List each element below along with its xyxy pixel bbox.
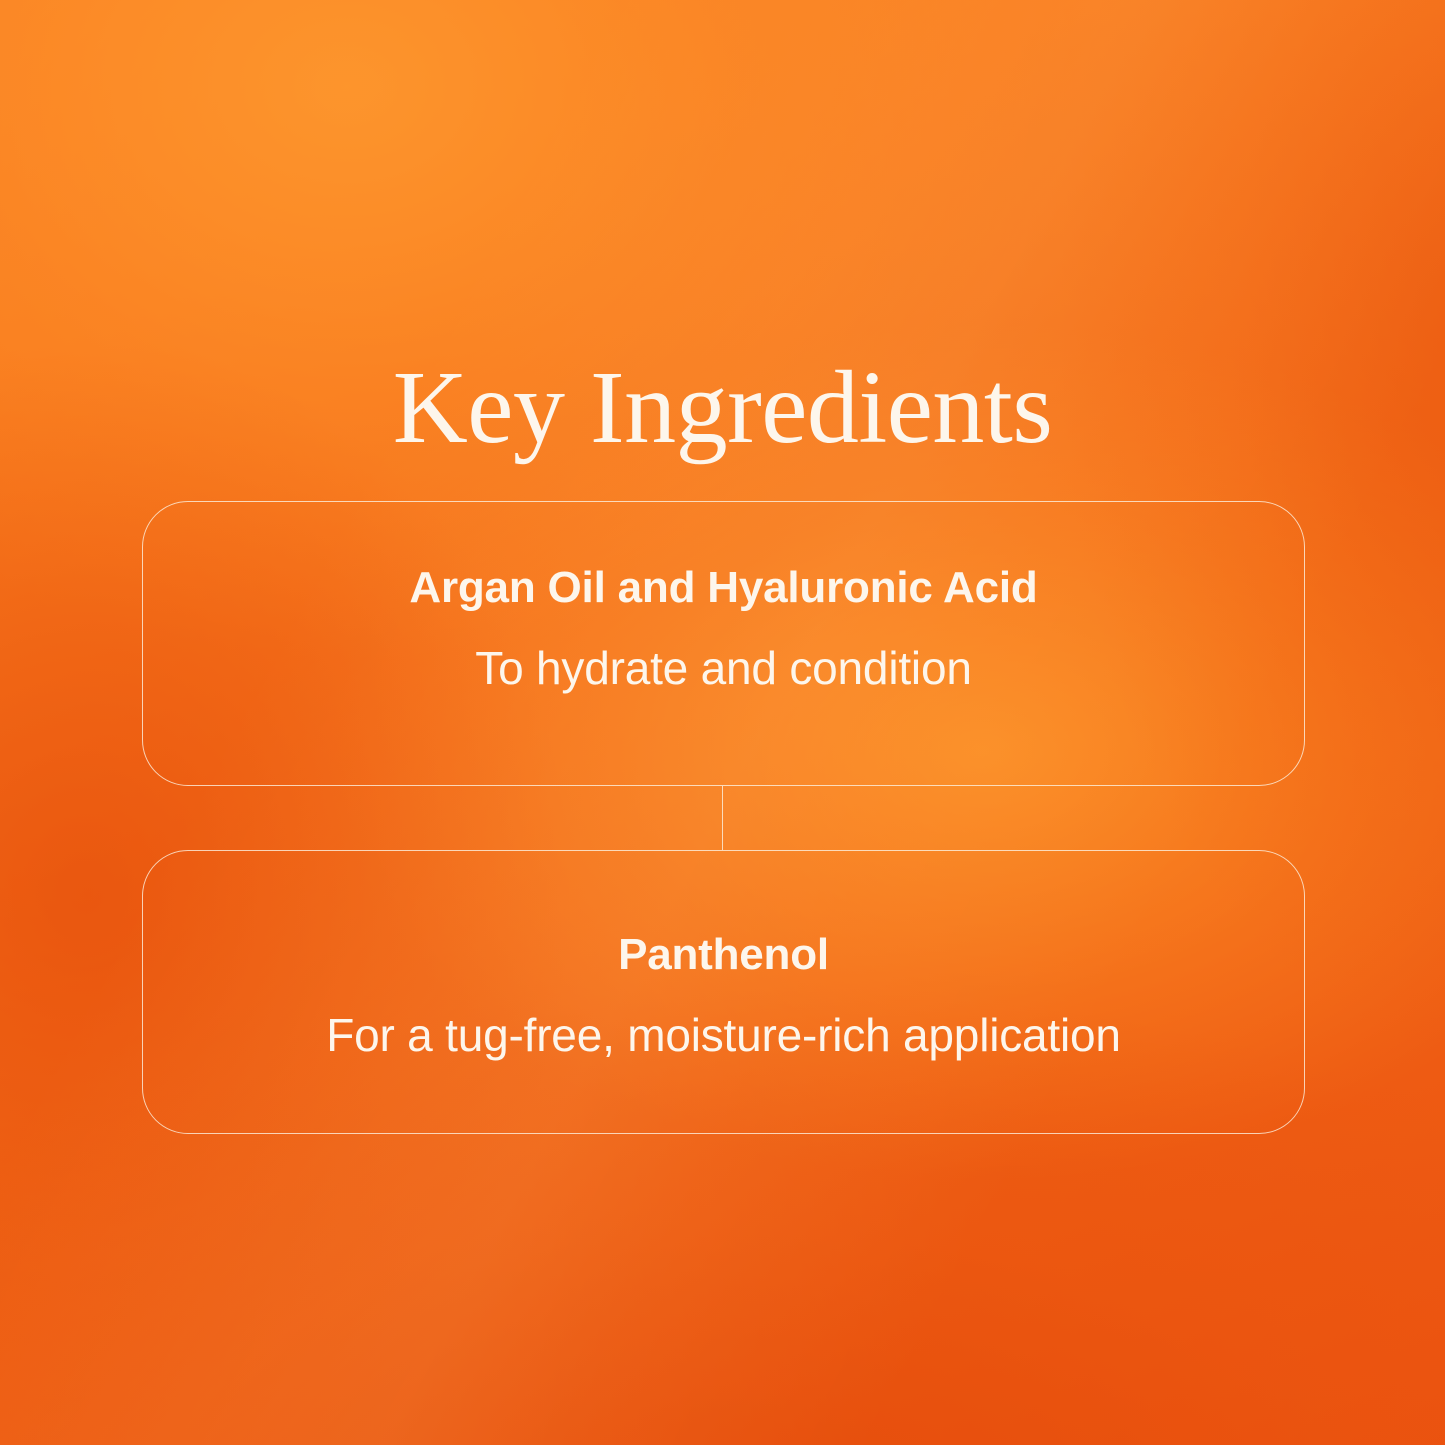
ingredient-card-panthenol: Panthenol For a tug-free, moisture-rich … [142, 850, 1305, 1134]
ingredient-card-title: Argan Oil and Hyaluronic Acid [409, 564, 1037, 612]
key-ingredients-infographic: Key Ingredients Argan Oil and Hyaluronic… [0, 0, 1445, 1445]
ingredient-card-description: For a tug-free, moisture-rich applicatio… [326, 1009, 1121, 1062]
ingredient-card-description: To hydrate and condition [475, 642, 971, 695]
card-connector-line [722, 786, 723, 850]
page-title: Key Ingredients [0, 356, 1445, 460]
ingredient-card-title: Panthenol [618, 931, 829, 979]
ingredient-card-argan-oil-hyaluronic-acid: Argan Oil and Hyaluronic Acid To hydrate… [142, 501, 1305, 786]
